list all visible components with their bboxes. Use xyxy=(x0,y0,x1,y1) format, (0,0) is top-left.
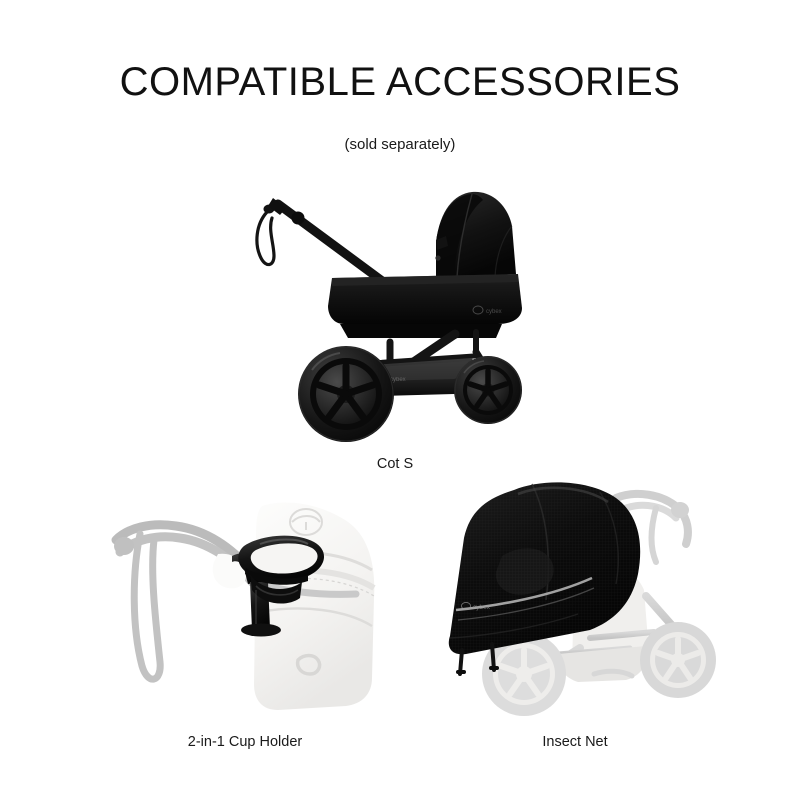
carrycot-body: cybex xyxy=(328,274,522,338)
svg-text:cybex: cybex xyxy=(473,604,491,611)
accessories-page: COMPATIBLE ACCESSORIES (sold separately) xyxy=(0,0,800,800)
product-caption-insect-net: Insect Net xyxy=(440,733,710,751)
ghost-stroller xyxy=(114,503,374,710)
product-cell-insect-net[interactable]: cybex xyxy=(440,478,710,723)
svg-text:cybex: cybex xyxy=(486,309,502,315)
product-caption-cup-holder: 2-in-1 Cup Holder xyxy=(75,733,415,751)
product-cell-cup-holder[interactable] xyxy=(110,478,380,723)
front-wheel[interactable] xyxy=(454,356,522,424)
page-title: COMPATIBLE ACCESSORIES xyxy=(0,60,800,104)
insect-net-icon: cybex xyxy=(440,478,710,723)
carrycot-hood xyxy=(435,192,516,278)
page-subtitle: (sold separately) xyxy=(0,136,800,154)
ghost-front-wheel xyxy=(640,622,716,698)
product-caption-cot-s: Cot S xyxy=(240,455,550,473)
rear-wheel[interactable] xyxy=(298,346,394,442)
product-cell-cot-s[interactable]: cybex xyxy=(240,182,550,452)
cup-holder-icon xyxy=(110,478,380,723)
carrycot-on-stroller-frame-icon: cybex xyxy=(240,182,550,452)
